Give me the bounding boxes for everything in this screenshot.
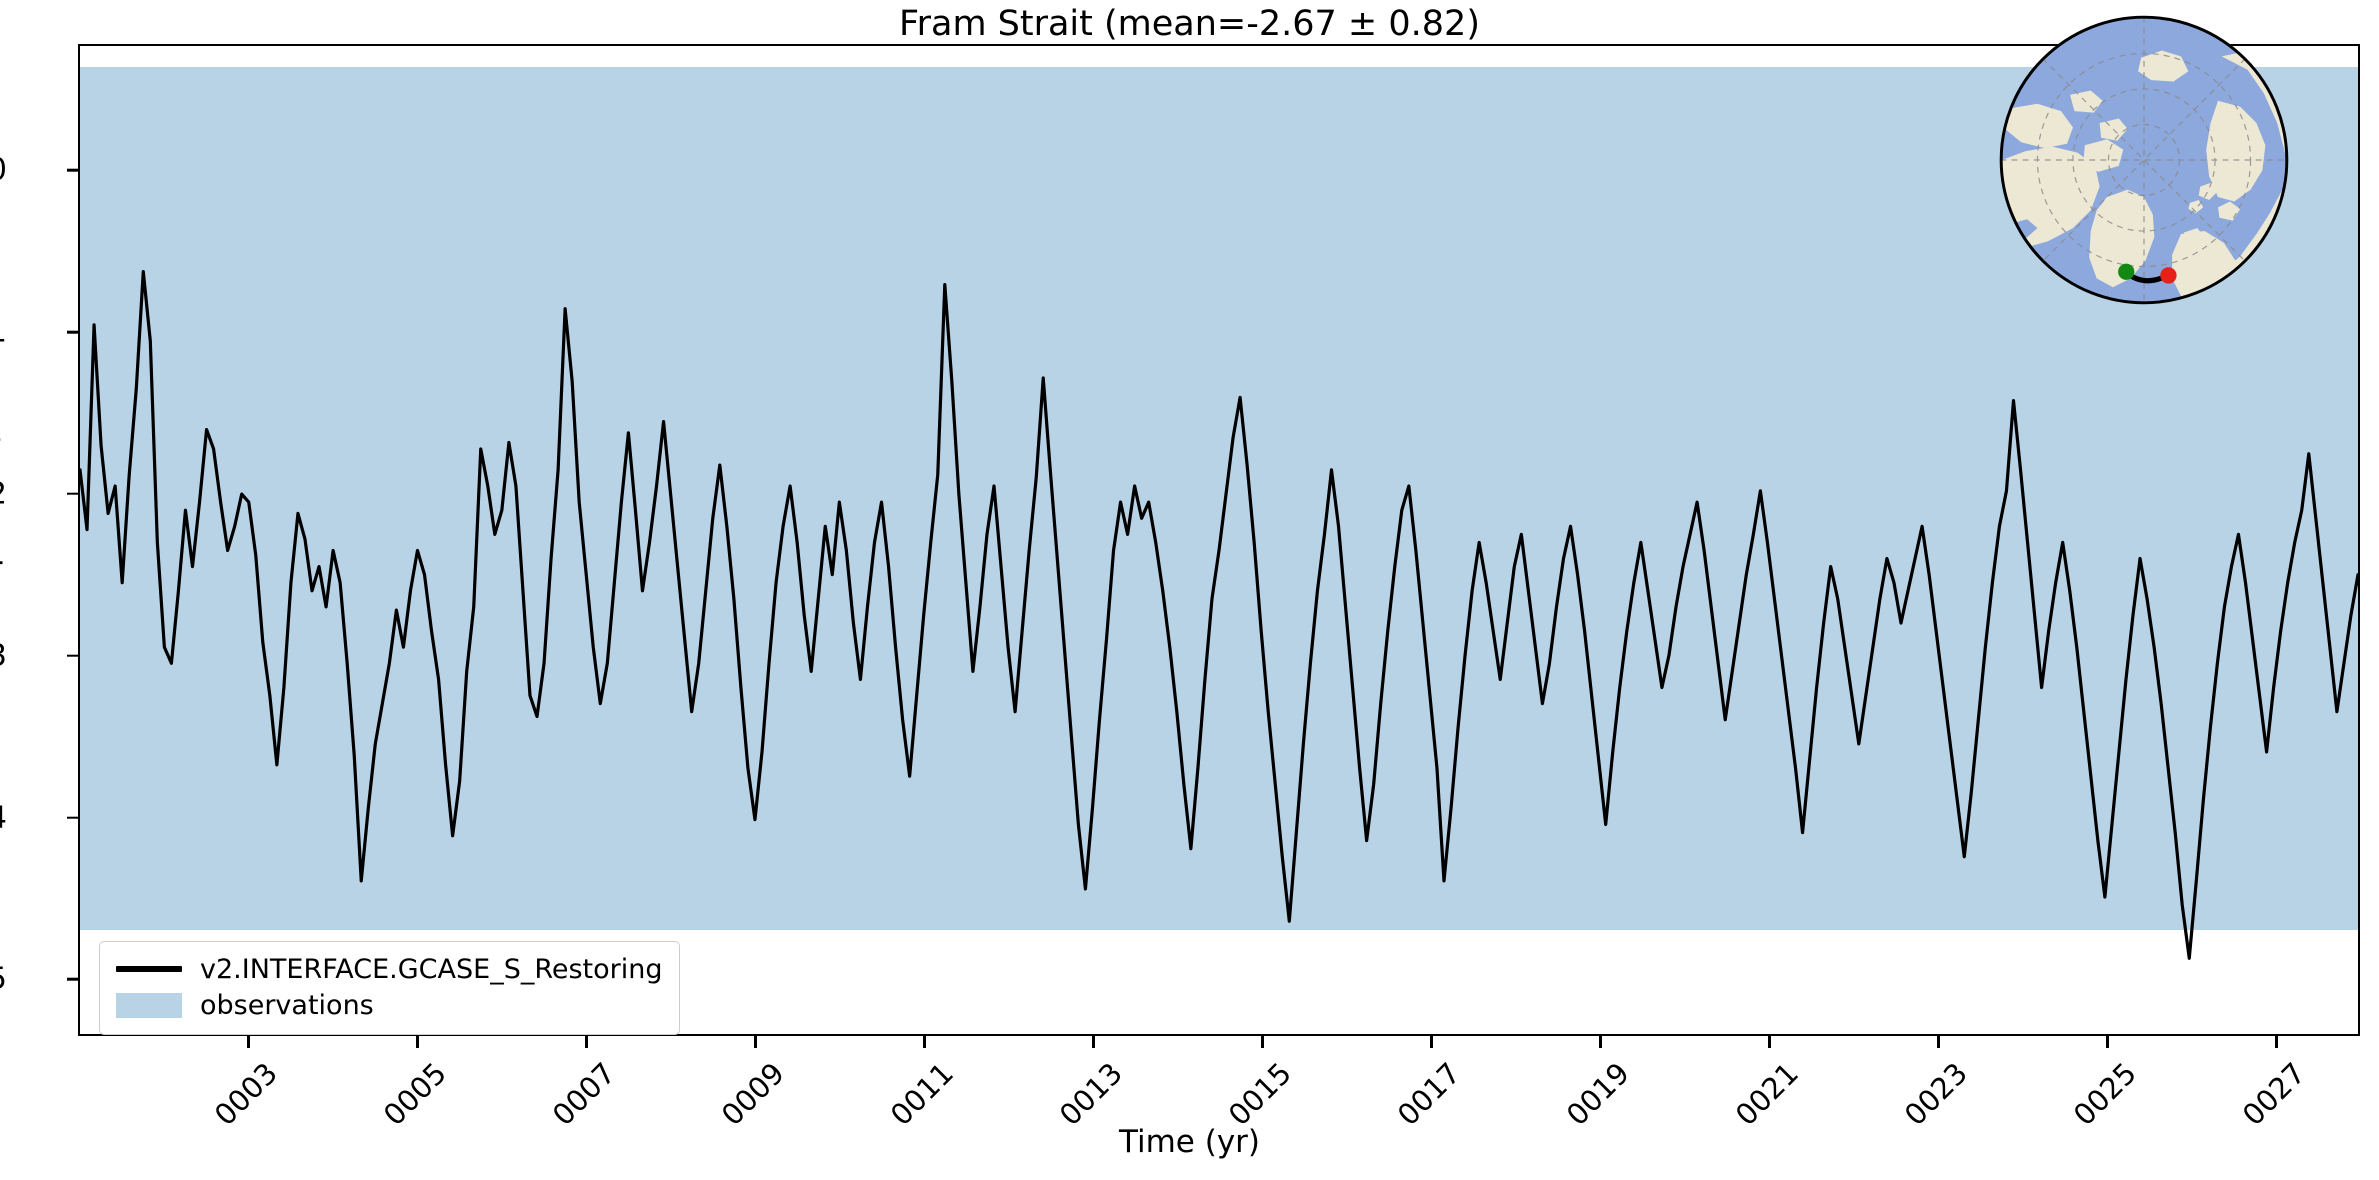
y-tick-label: −4 — [0, 800, 7, 835]
x-tick-mark — [585, 1036, 588, 1048]
x-tick-label: 0021 — [1729, 1056, 1805, 1132]
series-polyline — [80, 272, 2358, 1002]
y-axis-label: Transport (Sv) — [0, 431, 4, 649]
x-tick-mark — [416, 1036, 419, 1048]
x-tick-label: 0009 — [715, 1056, 791, 1132]
legend-line-swatch — [114, 957, 184, 981]
y-tick-label: 0 — [0, 153, 7, 188]
x-tick-label: 0003 — [208, 1056, 284, 1132]
y-tick-label: −5 — [0, 962, 7, 997]
x-tick-label: 0015 — [1222, 1056, 1298, 1132]
x-tick-mark — [1430, 1036, 1433, 1048]
y-tick-mark — [67, 493, 78, 496]
x-tick-mark — [754, 1036, 757, 1048]
x-axis-label: Time (yr) — [0, 1124, 2379, 1160]
legend: v2.INTERFACE.GCASE_S_Restoring observati… — [99, 941, 680, 1035]
y-tick-mark — [67, 331, 78, 334]
x-tick-label: 0013 — [1053, 1056, 1129, 1132]
x-tick-label: 0007 — [546, 1056, 622, 1132]
y-tick-mark — [67, 816, 78, 819]
x-tick-mark — [247, 1036, 250, 1048]
x-tick-label: 0019 — [1560, 1056, 1636, 1132]
transect-end-point — [2160, 267, 2176, 283]
x-tick-label: 0005 — [377, 1056, 453, 1132]
x-tick-mark — [923, 1036, 926, 1048]
y-tick-mark — [67, 654, 78, 657]
legend-label-observations: observations — [200, 992, 374, 1019]
transect-start-point — [2118, 264, 2134, 280]
legend-patch-swatch — [114, 993, 184, 1017]
x-tick-mark — [1599, 1036, 1602, 1048]
x-tick-mark — [1768, 1036, 1771, 1048]
x-tick-mark — [1092, 1036, 1095, 1048]
x-tick-label: 0025 — [2067, 1056, 2143, 1132]
x-tick-label: 0023 — [1898, 1056, 1974, 1132]
x-tick-mark — [1261, 1036, 1264, 1048]
y-tick-mark — [67, 978, 78, 981]
x-tick-label: 0011 — [884, 1056, 960, 1132]
y-tick-mark — [67, 169, 78, 172]
legend-item-observations: observations — [114, 987, 663, 1023]
x-tick-mark — [1937, 1036, 1940, 1048]
x-tick-mark — [2275, 1036, 2278, 1048]
figure-canvas: Fram Strait (mean=-2.67 ± 0.82) 0−1−2−3−… — [0, 0, 2379, 1180]
inset-arctic-map — [1944, 12, 2344, 308]
x-tick-label: 0027 — [2236, 1056, 2312, 1132]
legend-item-model: v2.INTERFACE.GCASE_S_Restoring — [114, 951, 663, 987]
y-tick-label: −1 — [0, 315, 7, 350]
x-tick-label: 0017 — [1391, 1056, 1467, 1132]
legend-label-model: v2.INTERFACE.GCASE_S_Restoring — [200, 956, 663, 983]
x-tick-mark — [2106, 1036, 2109, 1048]
